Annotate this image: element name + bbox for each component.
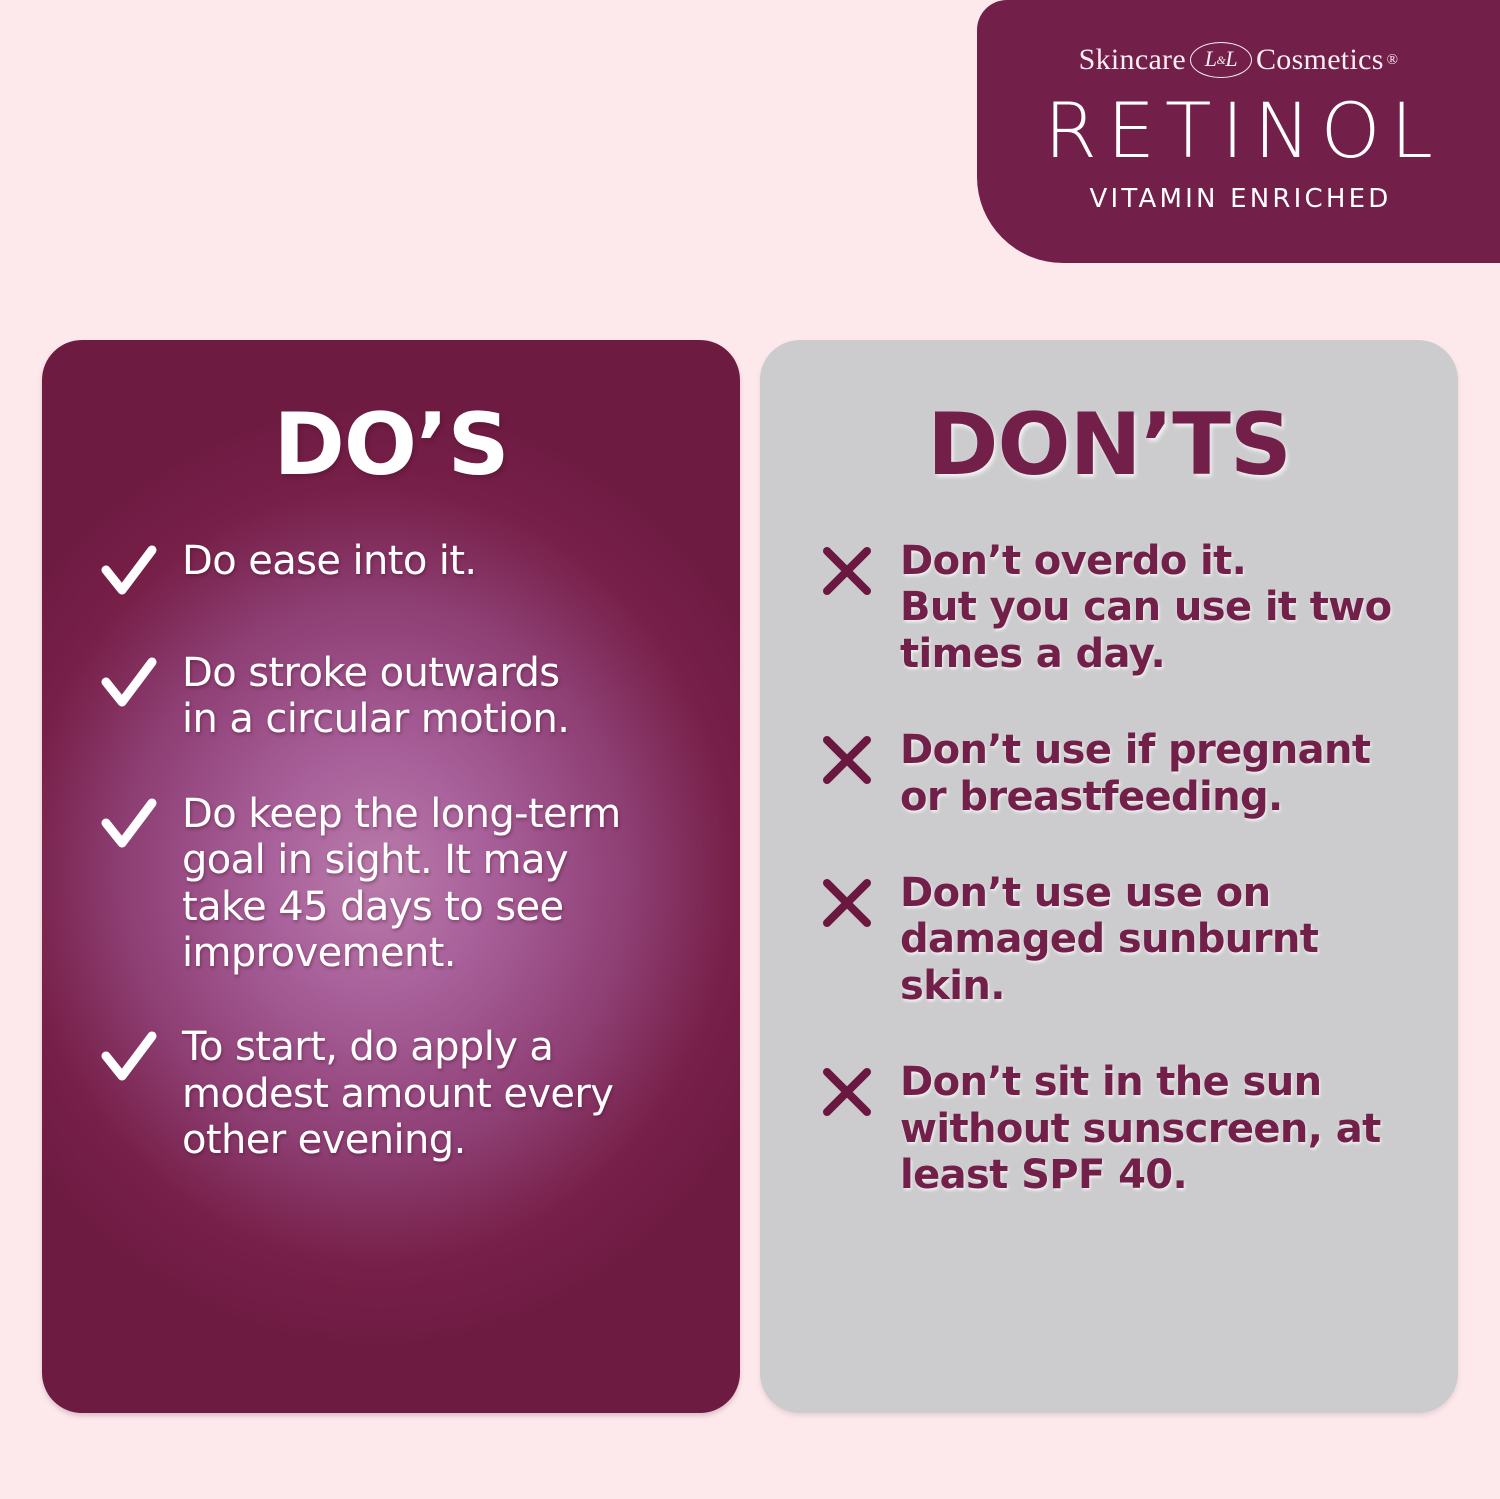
donts-item-text-3: Don’t use use ondamaged sunburnt skin. — [900, 868, 1430, 1009]
dos-item-text-3-line-4: improvement. — [182, 930, 621, 976]
dos-heading: DO’S — [42, 340, 740, 488]
dos-item-text-2-line-2: in a circular motion. — [182, 696, 569, 742]
list-item: Do stroke outwardsin a circular motion. — [98, 648, 712, 743]
monogram-l2: L — [1225, 46, 1237, 71]
monogram-l1: L — [1205, 46, 1217, 71]
product-name: RETINOL — [977, 92, 1500, 170]
x-icon — [816, 1061, 878, 1123]
donts-item-text-1-line-1: Don’t overdo it. — [900, 538, 1392, 584]
dos-panel: DO’S Do ease into it. Do stroke outwards… — [42, 340, 740, 1413]
donts-item-text-1-line-2: But you can use it two — [900, 584, 1392, 630]
dos-item-text-1: Do ease into it. — [182, 536, 477, 584]
donts-item-text-2-line-1: Don’t use if pregnant — [900, 727, 1370, 773]
ll-monogram-icon: L&L — [1190, 42, 1252, 78]
donts-item-text-3-line-2: damaged sunburnt skin. — [900, 916, 1430, 1009]
donts-panel: DON’TS Don’t overdo it.But you can use i… — [760, 340, 1458, 1413]
donts-item-text-1-line-3: times a day. — [900, 631, 1392, 677]
list-item: Do ease into it. — [98, 536, 712, 602]
dos-item-text-3: Do keep the long-termgoal in sight. It m… — [182, 789, 621, 977]
dos-item-text-2: Do stroke outwardsin a circular motion. — [182, 648, 569, 743]
dos-item-text-3-line-3: take 45 days to see — [182, 884, 621, 930]
list-item: Do keep the long-termgoal in sight. It m… — [98, 789, 712, 977]
donts-item-text-2: Don’t use if pregnantor breastfeeding. — [900, 725, 1370, 820]
dos-item-text-3-line-2: goal in sight. It may — [182, 837, 621, 883]
dos-item-text-4: To start, do apply amodest amount everyo… — [182, 1022, 613, 1163]
dos-item-text-1-line-1: Do ease into it. — [182, 538, 477, 584]
brand-banner: Skincare L&L Cosmetics® RETINOL VITAMIN … — [977, 0, 1500, 263]
dos-item-text-4-line-3: other evening. — [182, 1117, 613, 1163]
brand-script-left: Skincare — [1079, 45, 1186, 75]
donts-item-text-4-line-3: least SPF 40. — [900, 1152, 1381, 1198]
donts-item-text-4-line-2: without sunscreen, at — [900, 1106, 1381, 1152]
donts-item-text-1: Don’t overdo it.But you can use it twoti… — [900, 536, 1392, 677]
check-icon — [98, 540, 160, 602]
product-tagline: VITAMIN ENRICHED — [977, 184, 1500, 214]
x-icon — [816, 729, 878, 791]
dos-item-text-3-line-1: Do keep the long-term — [182, 791, 621, 837]
check-icon — [98, 652, 160, 714]
x-icon — [816, 872, 878, 934]
registered-trademark-icon: ® — [1387, 53, 1399, 68]
dos-item-list: Do ease into it. Do stroke outwardsin a … — [42, 536, 740, 1164]
x-icon — [816, 540, 878, 602]
donts-item-text-4-line-1: Don’t sit in the sun — [900, 1059, 1381, 1105]
check-icon — [98, 793, 160, 855]
check-icon — [98, 1026, 160, 1088]
dos-item-text-2-line-1: Do stroke outwards — [182, 650, 569, 696]
donts-item-text-3-line-1: Don’t use use on — [900, 870, 1430, 916]
donts-item-text-4: Don’t sit in the sunwithout sunscreen, a… — [900, 1057, 1381, 1198]
list-item: Don’t overdo it.But you can use it twoti… — [816, 536, 1430, 677]
list-item: Don’t sit in the sunwithout sunscreen, a… — [816, 1057, 1430, 1198]
dos-item-text-4-line-2: modest amount every — [182, 1071, 613, 1117]
list-item: Don’t use if pregnantor breastfeeding. — [816, 725, 1430, 820]
donts-item-list: Don’t overdo it.But you can use it twoti… — [760, 536, 1458, 1198]
donts-heading: DON’TS — [760, 340, 1458, 488]
list-item: Don’t use use ondamaged sunburnt skin. — [816, 868, 1430, 1009]
list-item: To start, do apply amodest amount everyo… — [98, 1022, 712, 1163]
brand-logo-lockup: Skincare L&L Cosmetics® — [977, 40, 1500, 80]
dos-item-text-4-line-1: To start, do apply a — [182, 1024, 613, 1070]
brand-script-right: Cosmetics — [1256, 45, 1384, 75]
donts-item-text-2-line-2: or breastfeeding. — [900, 774, 1370, 820]
